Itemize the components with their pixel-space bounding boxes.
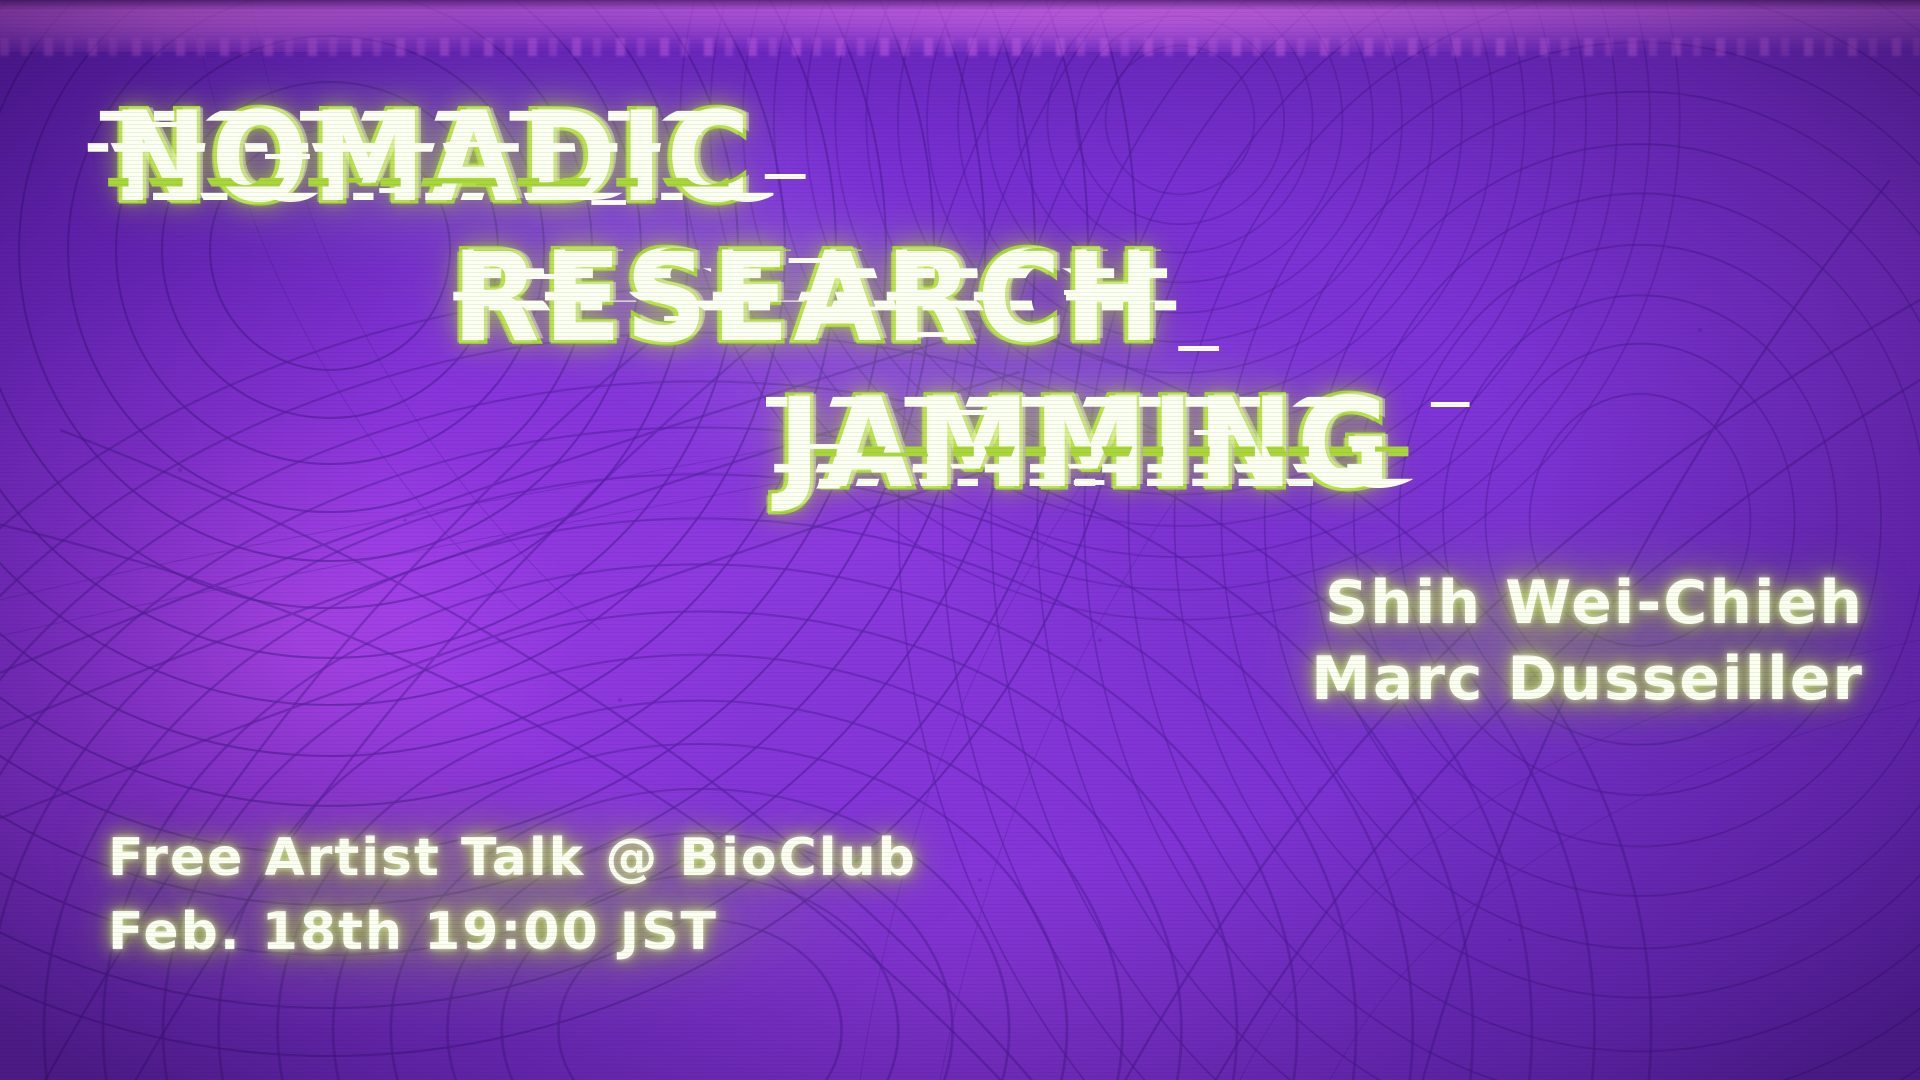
event-title-line: Free Artist Talk @ BioClub [108,828,917,888]
artist-name-2: Marc Dusseiller [1311,644,1864,714]
headline-line-3-text: JAMMING [778,372,1394,516]
headline-line-2: RESEARCH RESEARCH RESEARCH RESEARCH RESE… [452,236,1164,360]
headline-line-1: NOMADIC NOMADIC NOMADIC NOMADIC NOMADIC … [112,96,754,220]
headline-line-3: JAMMING JAMMING JAMMING JAMMING JAMMING … [778,382,1394,506]
artist-name-1: Shih Wei-Chieh [1325,568,1864,638]
headline-line-1-text: NOMADIC [112,86,754,230]
poster-canvas: NOMADIC NOMADIC NOMADIC NOMADIC NOMADIC … [0,0,1920,1080]
event-datetime-line: Feb. 18th 19:00 JST [108,902,718,962]
